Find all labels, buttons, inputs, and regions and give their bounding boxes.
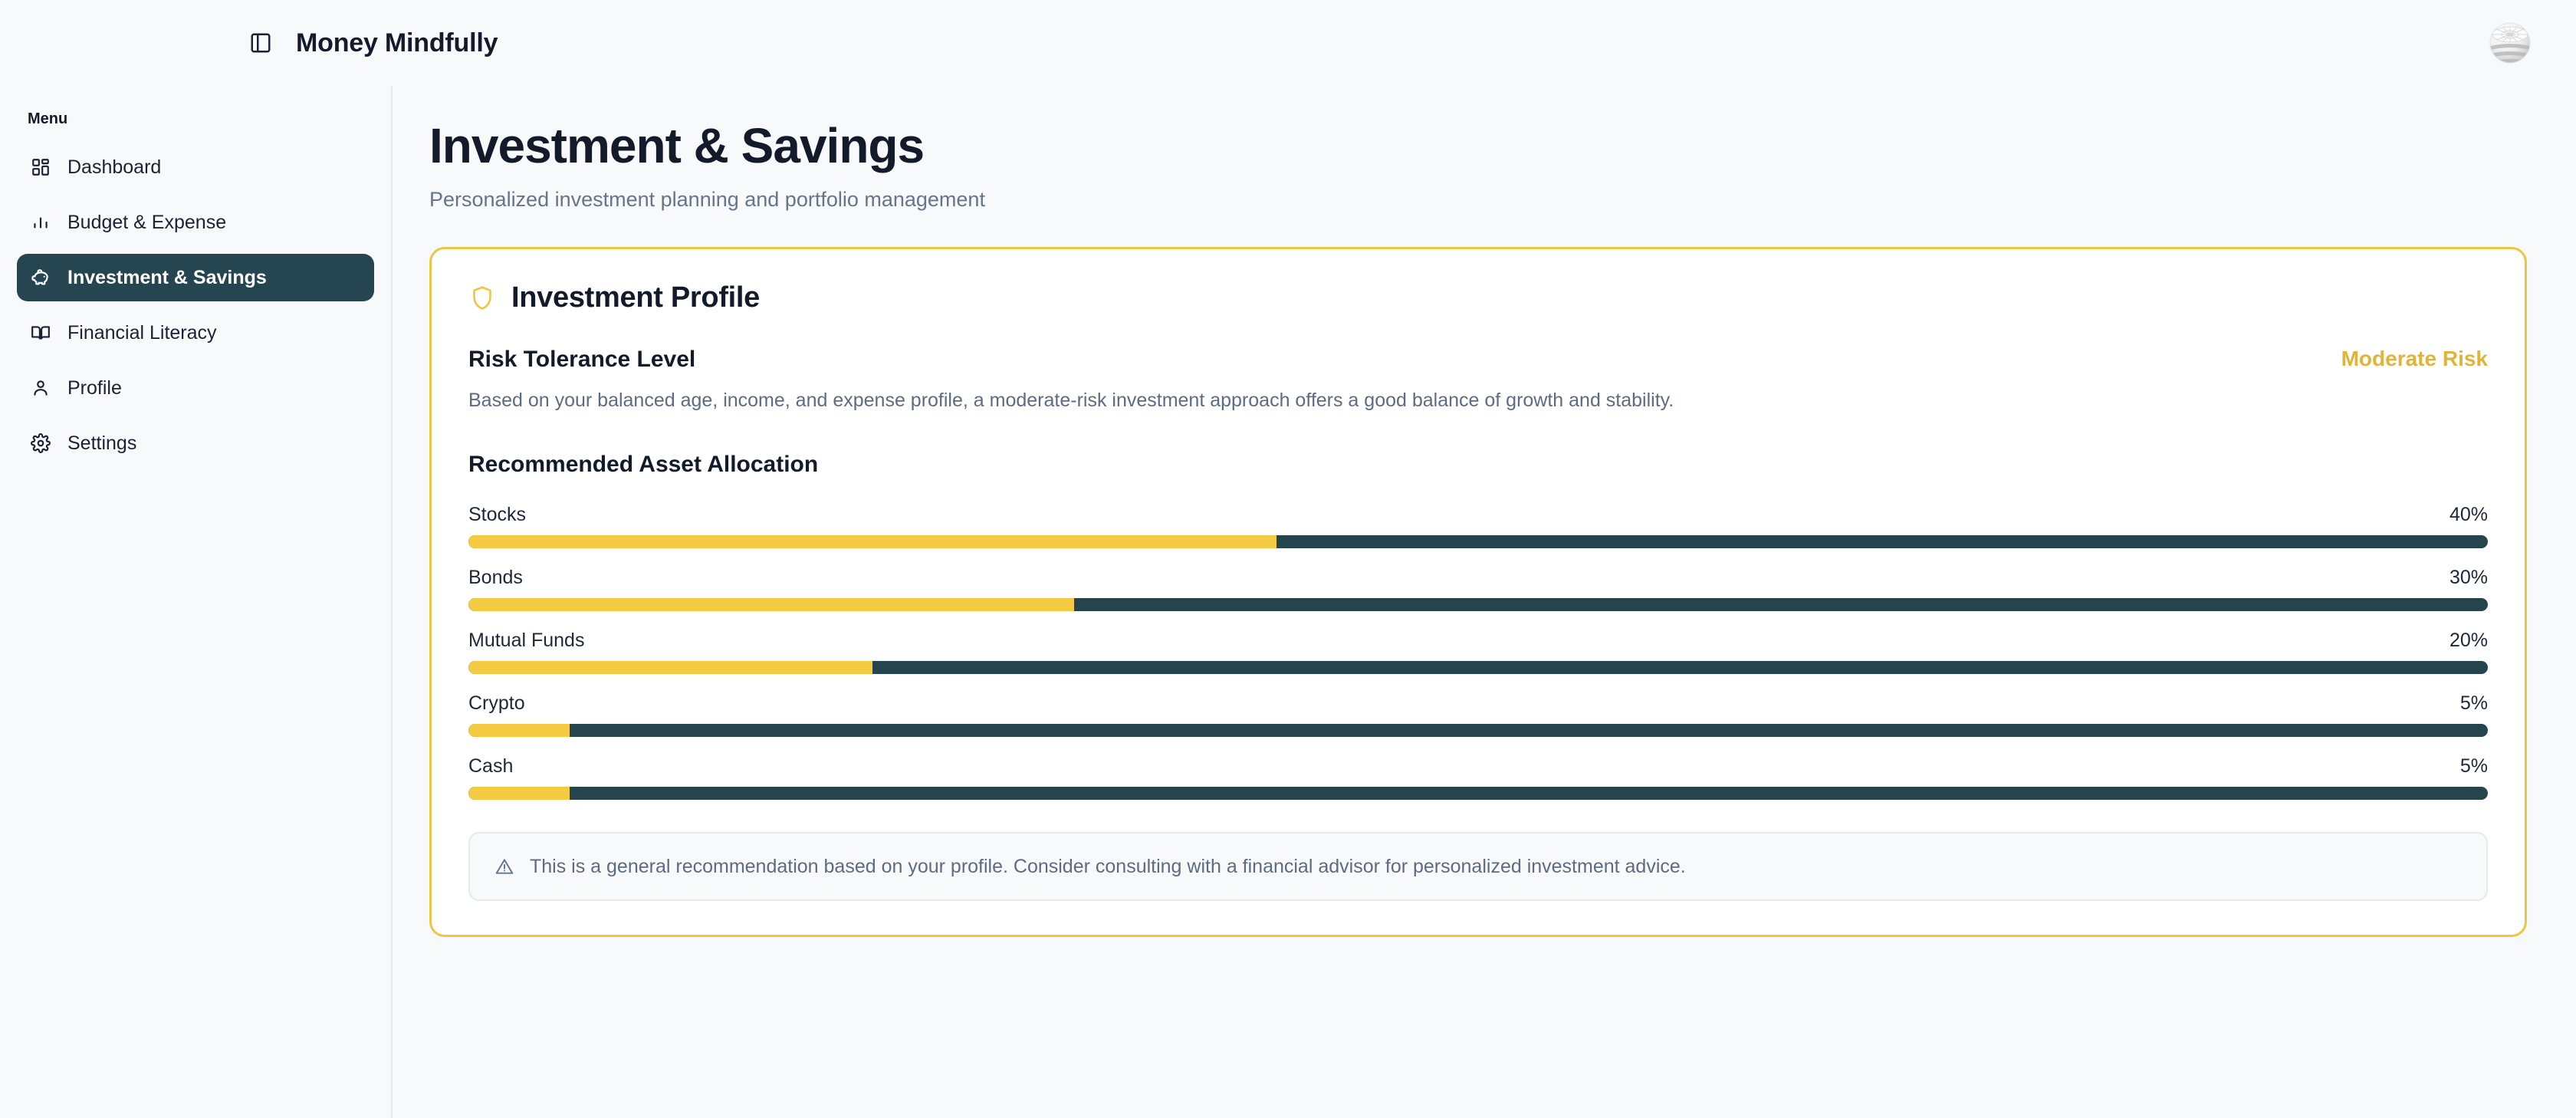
allocation-list: Stocks 40% Bonds 30% [468, 504, 2488, 800]
allocation-value: 5% [2460, 755, 2488, 778]
sidebar-item-dashboard[interactable]: Dashboard [17, 143, 374, 191]
sidebar-item-settings[interactable]: Settings [17, 419, 374, 467]
card-header: Investment Profile [468, 281, 2488, 314]
sidebar: Menu Dashboard [0, 86, 393, 1118]
allocation-row-header: Stocks 40% [468, 504, 2488, 526]
app-root: Money Mindfully [0, 0, 2576, 1118]
allocation-row: Stocks 40% [468, 504, 2488, 548]
allocation-value: 5% [2460, 692, 2488, 715]
page-title: Investment & Savings [429, 120, 2527, 173]
allocation-bar-fill [468, 724, 570, 737]
allocation-bar-fill [468, 661, 872, 674]
sidebar-item-label: Investment & Savings [67, 267, 267, 289]
allocation-row-header: Bonds 30% [468, 567, 2488, 589]
main-content: Investment & Savings Personalized invest… [393, 86, 2576, 1118]
allocation-bar-track [468, 661, 2488, 674]
disclaimer-box: This is a general recommendation based o… [468, 832, 2488, 901]
allocation-label: Cash [468, 755, 513, 778]
grid-icon [29, 156, 52, 179]
allocation-row: Mutual Funds 20% [468, 630, 2488, 674]
sidebar-item-label: Budget & Expense [67, 212, 226, 234]
shield-icon [468, 284, 496, 313]
allocation-row-header: Cash 5% [468, 755, 2488, 778]
body-split: Menu Dashboard [0, 86, 2576, 1118]
allocation-row: Bonds 30% [468, 567, 2488, 611]
sidebar-item-budget-expense[interactable]: Budget & Expense [17, 199, 374, 246]
allocation-bar-track [468, 598, 2488, 611]
allocation-value: 40% [2449, 504, 2488, 526]
allocation-bar-track [468, 535, 2488, 548]
risk-tolerance-heading: Risk Tolerance Level [468, 347, 695, 373]
user-icon [29, 377, 52, 400]
allocation-value: 30% [2449, 567, 2488, 589]
warning-triangle-icon [493, 855, 516, 878]
allocation-label: Mutual Funds [468, 630, 584, 652]
top-bar: Money Mindfully [0, 0, 2576, 86]
sidebar-item-label: Dashboard [67, 156, 161, 179]
sidebar-item-investment-savings[interactable]: Investment & Savings [17, 254, 374, 301]
allocation-bar-fill [468, 787, 570, 800]
page-subtitle: Personalized investment planning and por… [429, 188, 2527, 212]
risk-tolerance-row: Risk Tolerance Level Moderate Risk [468, 347, 2488, 373]
sidebar-item-label: Profile [67, 377, 122, 400]
allocation-label: Bonds [468, 567, 523, 589]
app-title: Money Mindfully [296, 28, 498, 58]
allocation-row-header: Mutual Funds 20% [468, 630, 2488, 652]
allocation-row: Cash 5% [468, 755, 2488, 800]
book-open-icon [29, 321, 52, 344]
sidebar-item-label: Financial Literacy [67, 322, 217, 344]
disclaimer-text: This is a general recommendation based o… [530, 856, 1686, 878]
piggy-bank-icon [29, 266, 52, 289]
allocation-value: 20% [2449, 630, 2488, 652]
bar-chart-icon [29, 211, 52, 234]
allocation-label: Stocks [468, 504, 526, 526]
sidebar-item-label: Settings [67, 432, 136, 455]
gear-icon [29, 432, 52, 455]
avatar[interactable] [2486, 19, 2534, 67]
allocation-row: Crypto 5% [468, 692, 2488, 737]
top-bar-left: Money Mindfully [0, 28, 498, 58]
allocation-heading: Recommended Asset Allocation [468, 452, 2488, 478]
menu-label: Menu [17, 110, 374, 143]
investment-profile-card: Investment Profile Risk Tolerance Level … [429, 247, 2527, 937]
allocation-row-header: Crypto 5% [468, 692, 2488, 715]
allocation-bar-fill [468, 598, 1074, 611]
sidebar-item-financial-literacy[interactable]: Financial Literacy [17, 309, 374, 357]
allocation-bar-track [468, 787, 2488, 800]
allocation-bar-track [468, 724, 2488, 737]
status-badge: Moderate Risk [2341, 347, 2488, 371]
panel-left-icon[interactable] [245, 28, 276, 58]
card-title: Investment Profile [511, 281, 760, 314]
sidebar-item-profile[interactable]: Profile [17, 364, 374, 412]
risk-tolerance-description: Based on your balanced age, income, and … [468, 390, 2488, 412]
allocation-label: Crypto [468, 692, 525, 715]
allocation-bar-fill [468, 535, 1276, 548]
top-bar-right [2486, 19, 2534, 67]
